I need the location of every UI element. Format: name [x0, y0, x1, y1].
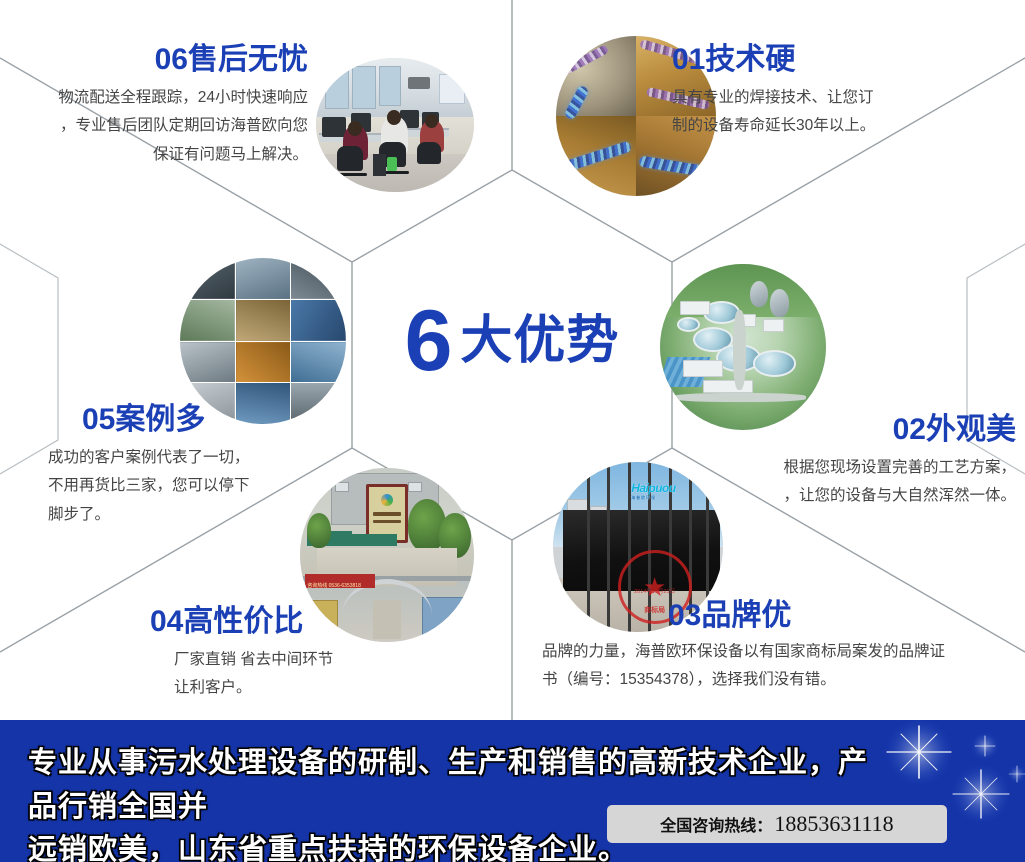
- center-title: 6 大优势: [382, 286, 642, 396]
- feature-desc-line: 具有专业的焊接技术、让您订: [672, 84, 1002, 113]
- feature-desc-01: 具有专业的焊接技术、让您订 制的设备寿命延长30年以上。: [672, 84, 1002, 141]
- feature-desc-line: 让利客户。: [174, 674, 480, 703]
- center-number: 6: [405, 298, 451, 384]
- feature-desc-06: 物流配送全程跟踪，24小时快速响应 ，专业售后团队定期回访海普欧向您 保证有问题…: [18, 84, 308, 170]
- brand-logo-text: Haipuou: [631, 481, 676, 495]
- feature-desc-04: 厂家直销 省去中间环节 让利客户。: [174, 646, 480, 703]
- brand-logo-haipuou: Haipuou 海普欧环保: [631, 481, 676, 501]
- feature-desc-line: 不用再货比三家，您可以停下: [48, 472, 348, 501]
- feature-heading-04: 04高性价比: [150, 606, 480, 638]
- feature-desc-line: 保证有问题马上解决。: [18, 141, 308, 170]
- feature-block-04: 04高性价比 厂家直销 省去中间环节 让利客户。: [150, 606, 480, 703]
- hotline-label: 全国咨询热线：: [660, 812, 772, 836]
- feature-block-03: 03品牌优 品牌的力量，海普欧环保设备以有国家商标局案发的品牌证 书（编号：15…: [542, 600, 1012, 695]
- banner-text: 专业从事污水处理设备的研制、生产和销售的高新技术企业，产品行销全国并 远销欧美，…: [28, 742, 888, 862]
- feature-block-01: 01技术硬 具有专业的焊接技术、让您订 制的设备寿命延长30年以上。: [672, 44, 1002, 141]
- feature-desc-line: 制的设备寿命延长30年以上。: [672, 112, 1002, 141]
- gate-banner-text-strip: 咨询热线 0536-6353818: [305, 574, 375, 588]
- feature-desc-line: 脚步了。: [48, 501, 348, 530]
- stamp-date: 2014年10月21日: [634, 587, 675, 595]
- feature-heading-03: 03品牌优: [668, 600, 1012, 632]
- feature-desc-line: 书（编号：15354378），选择我们没有错。: [542, 666, 1012, 695]
- feature-desc-03: 品牌的力量，海普欧环保设备以有国家商标局案发的品牌证 书（编号：15354378…: [542, 638, 1012, 695]
- feature-desc-line: ，专业售后团队定期回访海普欧向您: [18, 112, 308, 141]
- feature-desc-line: 物流配送全程跟踪，24小时快速响应: [18, 84, 308, 113]
- feature-heading-02: 02外观美: [628, 414, 1016, 446]
- feature-desc-line: 品牌的力量，海普欧环保设备以有国家商标局案发的品牌证: [542, 638, 1012, 667]
- feature-desc-line: 厂家直销 省去中间环节: [174, 646, 480, 675]
- hotline-number: 18853631118: [774, 811, 893, 837]
- brand-logo-subtext: 海普欧环保: [631, 495, 676, 501]
- feature-image-06-office-staff-photo: [316, 58, 474, 192]
- feature-image-05-case-collage-photo: [180, 258, 346, 424]
- feature-block-05: 05案例多 成功的客户案例代表了一切， 不用再货比三家，您可以停下 脚步了。: [48, 404, 348, 530]
- gate-banner-text: 咨询热线 0536-6353818: [305, 583, 361, 589]
- feature-heading-01: 01技术硬: [672, 44, 1002, 76]
- feature-heading-06: 06售后无忧: [18, 44, 308, 76]
- feature-heading-05: 05案例多: [82, 404, 348, 436]
- infographic-root: 6 大优势 06售后无忧 物流配送全程跟踪，24小时快速响应 ，专业售后团队定期…: [0, 0, 1025, 862]
- feature-image-02-aerial-treatment-plant-photo: [660, 264, 826, 430]
- hotline-badge[interactable]: 全国咨询热线： 18853631118: [607, 805, 947, 843]
- feature-block-06: 06售后无忧 物流配送全程跟踪，24小时快速响应 ，专业售后团队定期回访海普欧向…: [18, 44, 308, 170]
- feature-desc-05: 成功的客户案例代表了一切， 不用再货比三家，您可以停下 脚步了。: [48, 444, 348, 530]
- center-label: 大优势: [460, 315, 619, 367]
- feature-desc-line: 成功的客户案例代表了一切，: [48, 444, 348, 473]
